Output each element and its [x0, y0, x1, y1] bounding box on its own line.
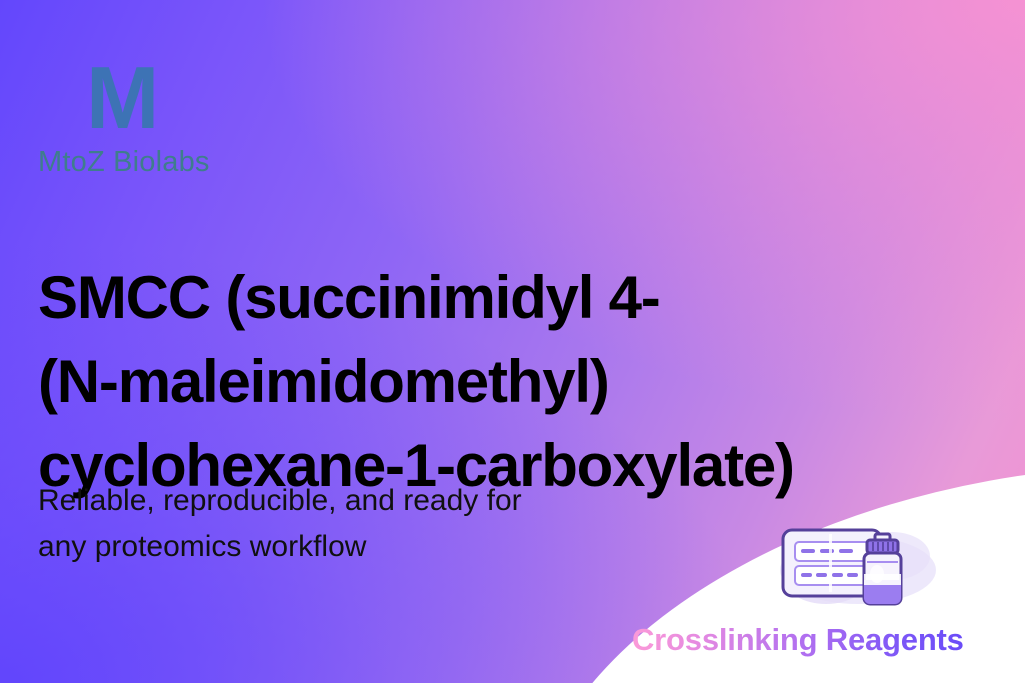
subtitle: Reliable, reproducible, and ready for an… [38, 478, 678, 570]
subtitle-line-2: any proteomics workflow [38, 524, 678, 570]
brand-logo: M MtoZ Biolabs [38, 56, 338, 179]
gel-plate-and-reagent-bottle-icon [766, 512, 946, 617]
subtitle-line-1: Reliable, reproducible, and ready for [38, 478, 678, 524]
page-title: SMCC (succinimidyl 4- (N-maleimidomethyl… [38, 256, 938, 508]
reagent-bottle [864, 534, 901, 604]
headline-line-2: (N-maleimidomethyl) [38, 340, 938, 424]
headline-line-1: SMCC (succinimidyl 4- [38, 256, 938, 340]
logo-wordmark: MtoZ Biolabs [38, 146, 338, 179]
promo-banner: M MtoZ Biolabs SMCC (succinimidyl 4- (N-… [0, 0, 1025, 683]
logo-monogram-icon: M [38, 56, 338, 140]
category-label: Crosslinking Reagents [632, 622, 964, 658]
